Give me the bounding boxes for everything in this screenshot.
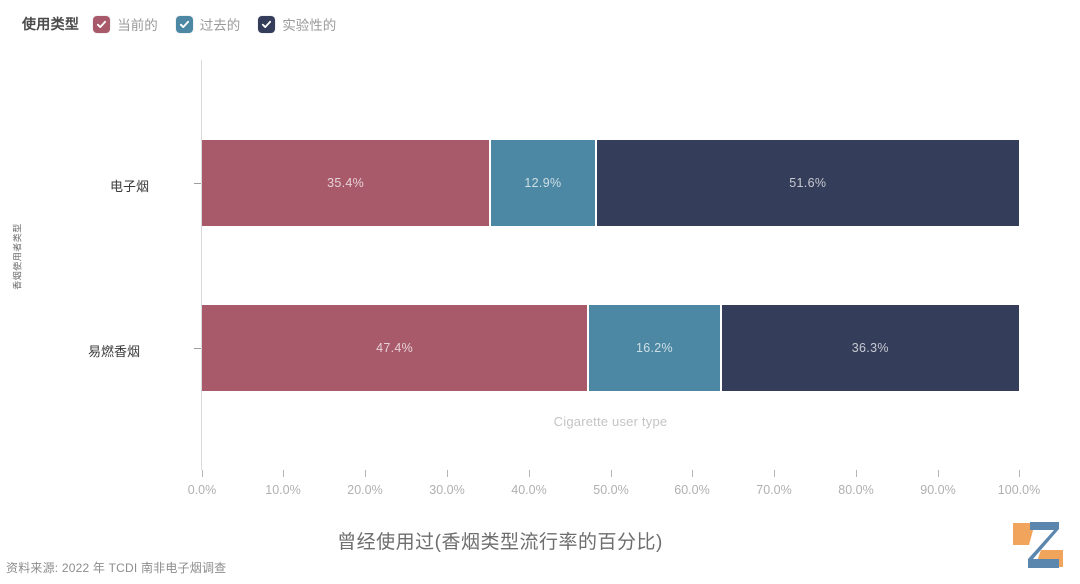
y-tick-mark bbox=[194, 348, 201, 349]
brand-logo-icon bbox=[1005, 512, 1073, 578]
bar-segment-current[interactable]: 35.4% bbox=[202, 140, 491, 226]
bar-value-label: 35.4% bbox=[327, 176, 364, 190]
y-axis-title: 香烟使用者类型 bbox=[11, 202, 24, 312]
bar-segment-current[interactable]: 47.4% bbox=[202, 305, 589, 391]
bar-value-label: 51.6% bbox=[789, 176, 826, 190]
bar-segment-past[interactable]: 12.9% bbox=[491, 140, 596, 226]
chart-title: 曾经使用过(香烟类型流行率的百分比) bbox=[0, 527, 1000, 554]
bar-segment-experimental[interactable]: 36.3% bbox=[722, 305, 1019, 391]
bar-value-label: 36.3% bbox=[852, 341, 889, 355]
y-tick-mark bbox=[194, 183, 201, 184]
bar-segment-past[interactable]: 16.2% bbox=[589, 305, 721, 391]
source-note: 资料来源: 2022 年 TCDI 南非电子烟调查 bbox=[6, 559, 226, 576]
bar-value-label: 12.9% bbox=[524, 176, 561, 190]
bar-value-label: 16.2% bbox=[636, 341, 673, 355]
x-axis-inner-label: Cigarette user type bbox=[202, 414, 1019, 429]
bar-row: 35.4% 12.9% 51.6% bbox=[202, 140, 1019, 226]
bar-value-label: 47.4% bbox=[376, 341, 413, 355]
y-category-label-1: 易燃香烟 bbox=[88, 341, 140, 360]
y-axis-line bbox=[201, 60, 202, 470]
chart-plot-area: 香烟使用者类型 电子烟 易燃香烟 35.4% 12.9% 51.6% 47.4%… bbox=[0, 0, 1080, 584]
bar-segment-experimental[interactable]: 51.6% bbox=[597, 140, 1019, 226]
y-category-label-0: 电子烟 bbox=[110, 176, 149, 195]
bar-row: 47.4% 16.2% 36.3% bbox=[202, 305, 1019, 391]
